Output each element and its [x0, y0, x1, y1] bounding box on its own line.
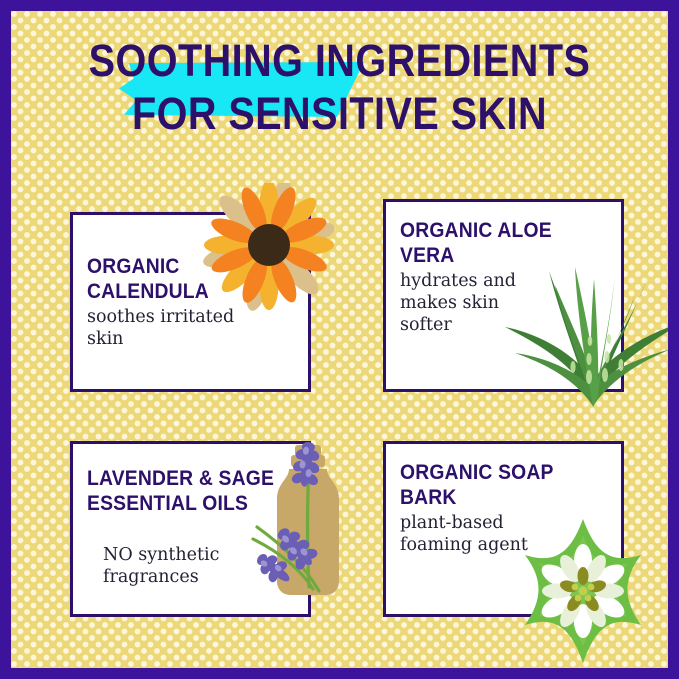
title-line-1: SOOTHING INGREDIENTS [50, 34, 628, 88]
card-aloe-vera-heading: ORGANIC ALOE VERA [400, 218, 590, 268]
card-essential-oils: LAVENDER & SAGE ESSENTIAL OILS NO synthe… [70, 441, 311, 617]
card-essential-oils-body: NO synthetic fragrances [87, 544, 294, 588]
title-line-2: FOR SENSITIVE SKIN [50, 87, 628, 141]
card-soap-bark-body: plant-based foaming agent [400, 512, 607, 556]
polka-dot-canvas: SOOTHING INGREDIENTS FOR SENSITIVE SKIN … [11, 11, 668, 668]
card-calendula: ORGANIC CALENDULA soothes irritated skin [70, 212, 311, 392]
infographic-poster: SOOTHING INGREDIENTS FOR SENSITIVE SKIN … [0, 0, 679, 679]
page-title: SOOTHING INGREDIENTS FOR SENSITIVE SKIN [11, 34, 668, 141]
card-aloe-vera: ORGANIC ALOE VERA hydrates and makes ski… [383, 199, 624, 392]
card-calendula-heading: ORGANIC CALENDULA [87, 254, 277, 304]
card-calendula-body: soothes irritated skin [87, 306, 294, 350]
card-soap-bark: ORGANIC SOAP BARK plant-based foaming ag… [383, 441, 624, 617]
card-aloe-vera-body: hydrates and makes skin softer [400, 270, 607, 336]
card-essential-oils-heading: LAVENDER & SAGE ESSENTIAL OILS [87, 466, 277, 516]
card-soap-bark-heading: ORGANIC SOAP BARK [400, 460, 590, 510]
